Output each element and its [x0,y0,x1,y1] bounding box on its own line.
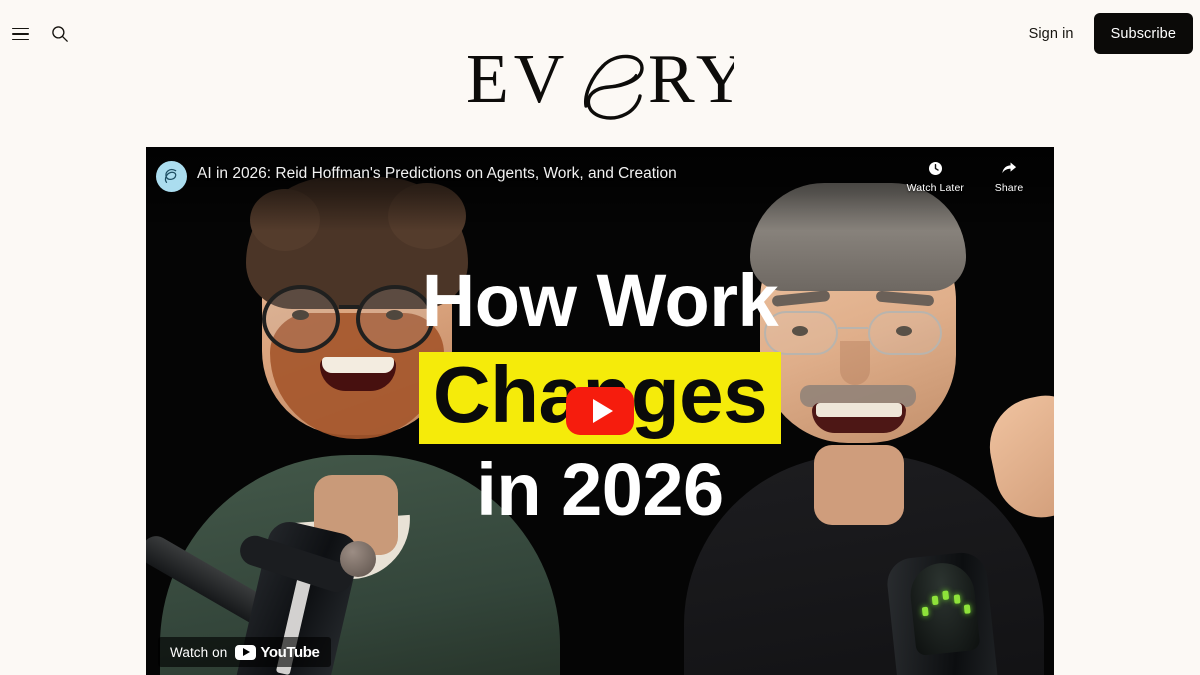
microphone-adjust-knob [340,541,376,577]
youtube-wordmark: YouTube [235,644,319,661]
left-teeth [322,357,394,373]
youtube-video-player[interactable]: How Work Changes in 2026 AI in 2026: Rei… [146,147,1054,675]
microphone-led [932,596,939,606]
svg-text:EV: EV [466,44,569,118]
search-icon[interactable] [40,22,80,46]
hamburger-line [12,28,29,30]
left-eyeglass-lens [356,285,434,353]
video-title[interactable]: AI in 2026: Reid Hoffman's Predictions o… [197,164,907,183]
site-logo[interactable]: EV RY [450,40,750,132]
channel-avatar[interactable] [156,161,187,192]
microphone-led [954,594,961,604]
play-triangle-icon [593,399,613,423]
svg-text:RY: RY [648,44,734,118]
watch-later-label: Watch Later [907,182,964,194]
nav-left-group [0,22,80,46]
microphone-led [964,604,971,614]
share-arrow-icon [1000,160,1018,177]
microphone-led [922,607,929,617]
right-nose [840,341,870,385]
subscribe-button[interactable]: Subscribe [1094,13,1193,54]
search-glyph [51,25,69,43]
youtube-brand-label: YouTube [260,644,319,661]
right-neck [814,445,904,525]
youtube-player-top-bar: AI in 2026: Reid Hoffman's Predictions o… [146,147,1054,231]
hamburger-icon[interactable] [0,22,40,46]
youtube-play-badge-icon [235,645,256,660]
player-actions: Watch Later Share [907,160,1040,194]
every-wordmark-glyph: EV RY [466,44,734,128]
left-eyeglass-bridge [339,305,359,309]
share-label: Share [995,182,1024,194]
left-eyeglass-lens [262,285,340,353]
right-teeth [816,403,902,417]
clock-icon [927,160,944,177]
watch-on-youtube-button[interactable]: Watch on YouTube [158,637,331,667]
right-eyeglass-lens [868,311,942,355]
right-eyeglass-lens [764,311,838,355]
right-eyeglass-bridge [838,327,868,329]
youtube-play-button[interactable] [566,387,634,435]
hamburger-line [12,39,29,41]
sign-in-button[interactable]: Sign in [1027,20,1076,48]
watch-on-label: Watch on [170,645,227,660]
nav-right-group: Sign in Subscribe [1027,13,1193,54]
every-script-e-avatar-icon [159,164,184,189]
watch-later-button[interactable]: Watch Later [907,160,964,194]
hamburger-line [12,33,29,35]
microphone-led [942,590,949,600]
share-button[interactable]: Share [982,160,1036,194]
